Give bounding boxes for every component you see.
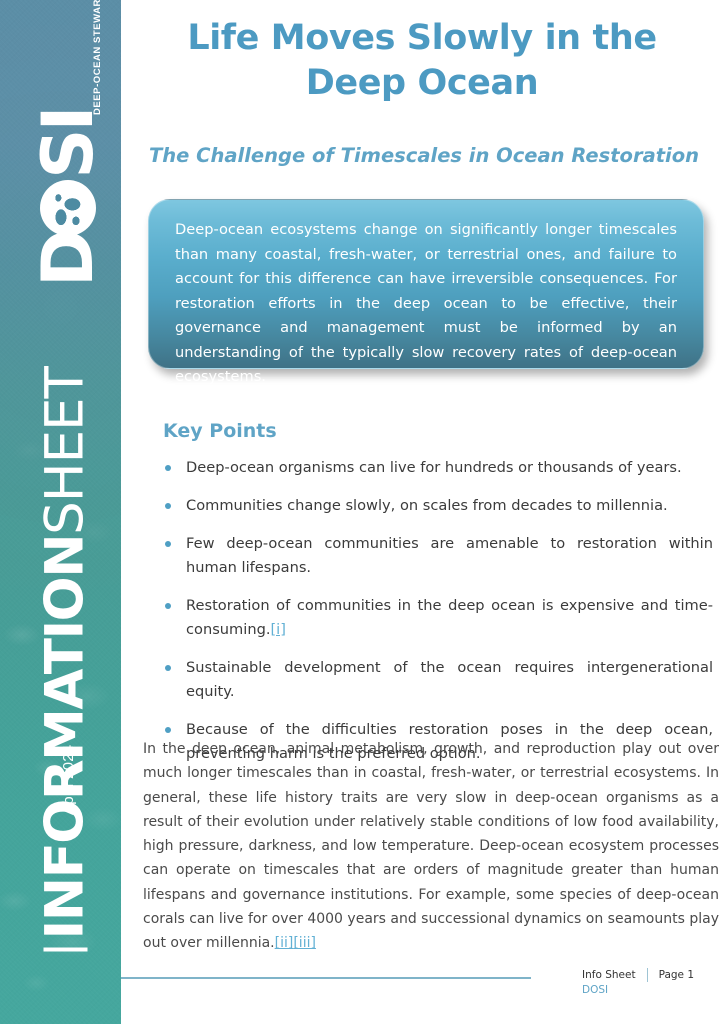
- key-point-text: Restoration of communities in the deep o…: [186, 597, 713, 638]
- summary-callout-text: Deep-ocean ecosystems change on signific…: [175, 218, 677, 390]
- logo-letter-d: D: [35, 232, 101, 287]
- dosi-wordmark: D SI: [33, 108, 103, 287]
- series-label-bold: INFORMATION: [39, 535, 92, 940]
- key-point-text: Communities change slowly, on scales fro…: [186, 497, 668, 514]
- footer-doc-type: Info Sheet: [582, 969, 636, 981]
- footer-rule-left: [121, 977, 531, 979]
- key-point-item: Restoration of communities in the deep o…: [151, 594, 713, 642]
- footnote-link[interactable]: [ii]: [275, 935, 294, 951]
- footnote-link[interactable]: [iii]: [293, 935, 316, 951]
- footer-separator: [647, 968, 648, 982]
- key-points-heading: Key Points: [163, 420, 277, 442]
- body-paragraph: In the deep ocean, animal metabolism, gr…: [143, 737, 719, 956]
- key-point-item: Communities change slowly, on scales fro…: [151, 494, 713, 518]
- page-subtitle: The Challenge of Timescales in Ocean Res…: [131, 143, 717, 169]
- key-point-text: Sustainable development of the ocean req…: [186, 659, 713, 700]
- information-sheet-label: INFORMATION SHEET: [39, 392, 92, 952]
- key-point-text: Deep-ocean organisms can live for hundre…: [186, 459, 682, 476]
- document-content: Life Moves Slowly in the Deep Ocean The …: [121, 0, 723, 1024]
- info-sheet-page: D SI DEEP-OCEAN STEWARDSHIP INITIATIVE I…: [0, 0, 723, 1024]
- footer-organization: DOSI: [582, 984, 608, 996]
- key-point-item: Sustainable development of the ocean req…: [151, 656, 713, 704]
- globe-icon: [40, 180, 96, 236]
- page-title: Life Moves Slowly in the Deep Ocean: [139, 16, 705, 106]
- key-points-list: Deep-ocean organisms can live for hundre…: [151, 456, 713, 780]
- vertical-rule-decoration: [44, 948, 88, 952]
- globe-ring-icon: [40, 180, 96, 236]
- publication-date: April 2024: [60, 744, 77, 815]
- dosi-tagline: DEEP-OCEAN STEWARDSHIP INITIATIVE: [92, 0, 103, 115]
- footer-page-number: Page 1: [659, 969, 694, 981]
- footnote-link[interactable]: [i]: [270, 621, 285, 638]
- series-label-light: SHEET: [39, 367, 92, 535]
- key-point-text: Few deep-ocean communities are amenable …: [186, 535, 713, 576]
- key-point-item: Few deep-ocean communities are amenable …: [151, 532, 713, 580]
- body-paragraph-text: In the deep ocean, animal metabolism, gr…: [143, 741, 719, 951]
- footer-metadata: Info Sheet Page 1: [582, 968, 723, 982]
- left-sidebar-banner: D SI DEEP-OCEAN STEWARDSHIP INITIATIVE I…: [0, 0, 121, 1024]
- key-point-item: Deep-ocean organisms can live for hundre…: [151, 456, 713, 480]
- logo-letters-si: SI: [35, 108, 101, 178]
- summary-callout-box: Deep-ocean ecosystems change on signific…: [148, 199, 704, 369]
